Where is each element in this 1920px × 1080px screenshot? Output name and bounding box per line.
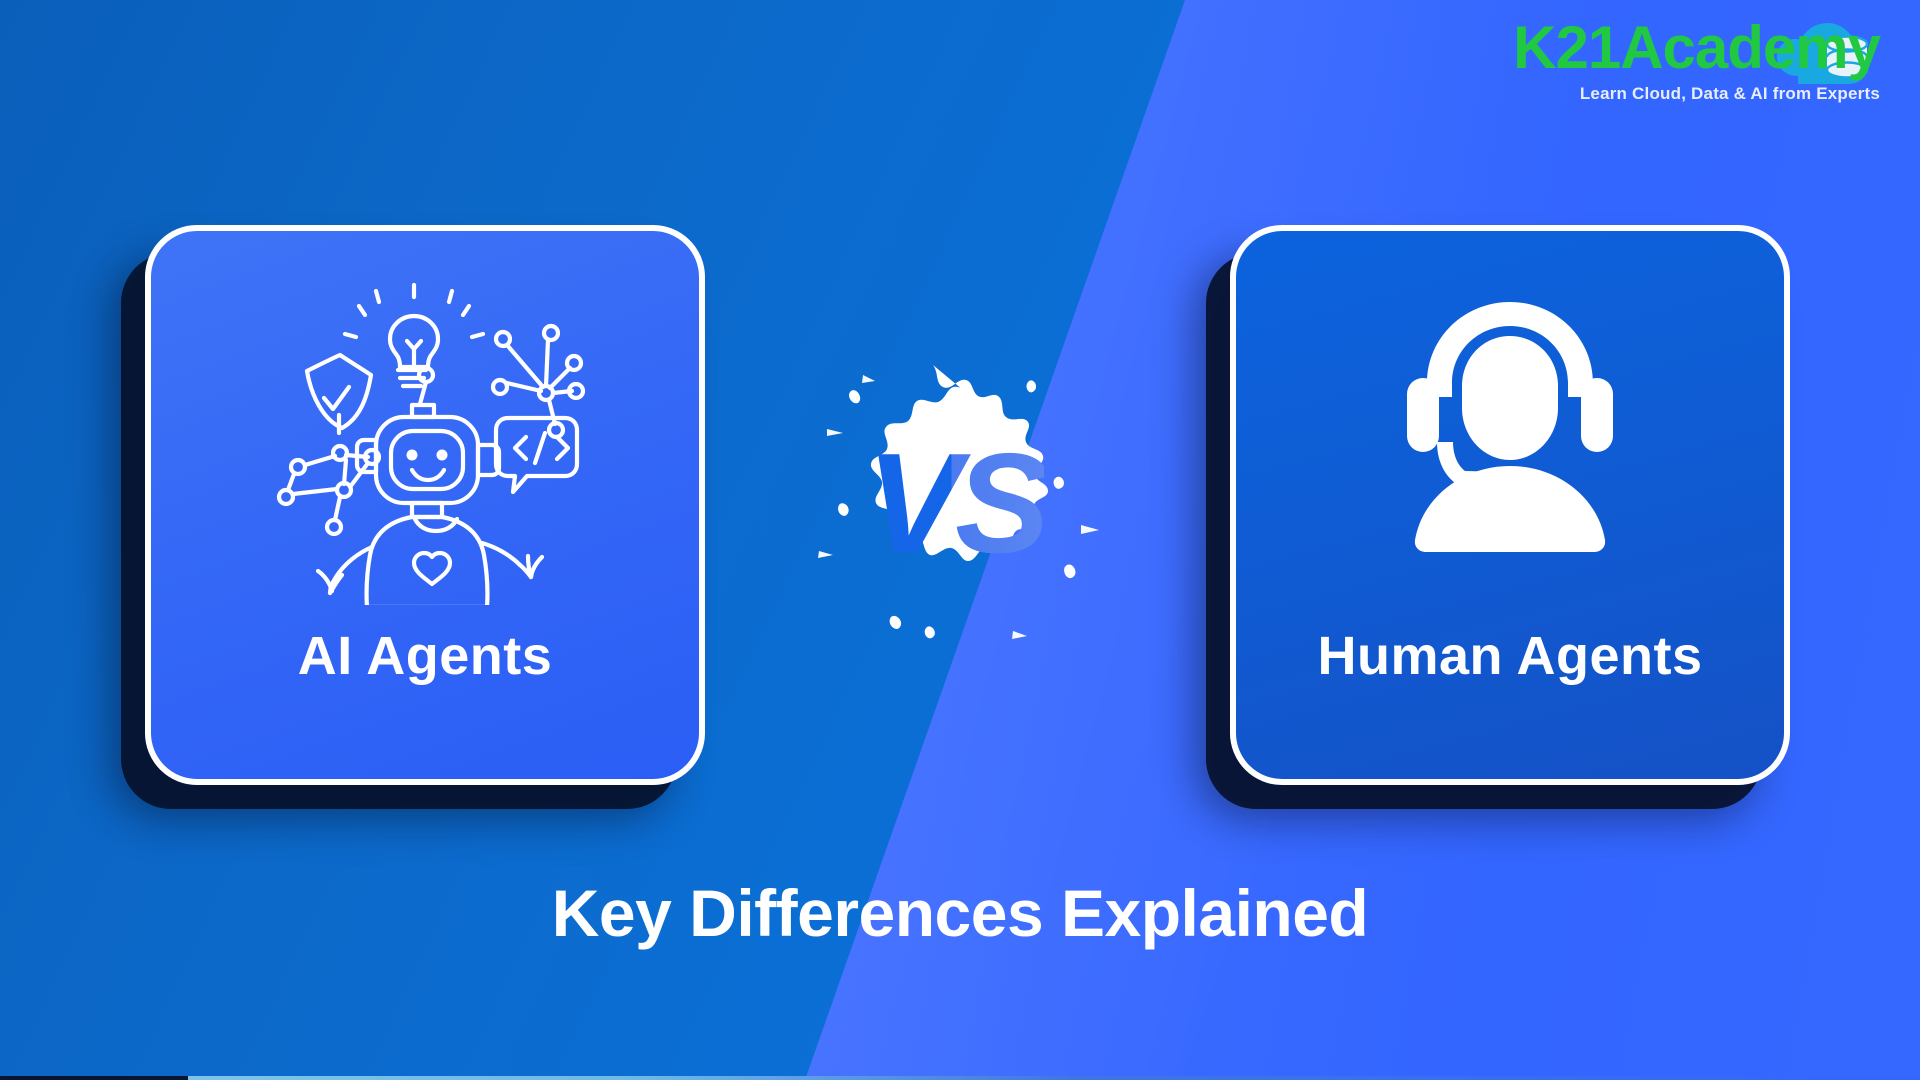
card-human-agents-label: Human Agents	[1317, 625, 1702, 687]
card-human-agents[interactable]: Human Agents	[1230, 225, 1790, 785]
page-title: Key Differences Explained	[0, 875, 1920, 951]
card-ai-agents-label: AI Agents	[298, 625, 553, 687]
card-ai-agents[interactable]: AI Agents	[145, 225, 705, 785]
headset-support-agent-icon	[1360, 265, 1660, 615]
robot-ai-illustration-icon	[260, 265, 590, 615]
versus-label: VS	[866, 433, 1043, 575]
versus-badge: VS	[805, 355, 1105, 645]
brand-wordmark: K21Academy	[1513, 18, 1880, 78]
brand-logo[interactable]: K21Academy Learn Cloud, Data & AI from E…	[1513, 18, 1880, 102]
background-bottom-edge-stripe	[0, 1076, 1920, 1080]
